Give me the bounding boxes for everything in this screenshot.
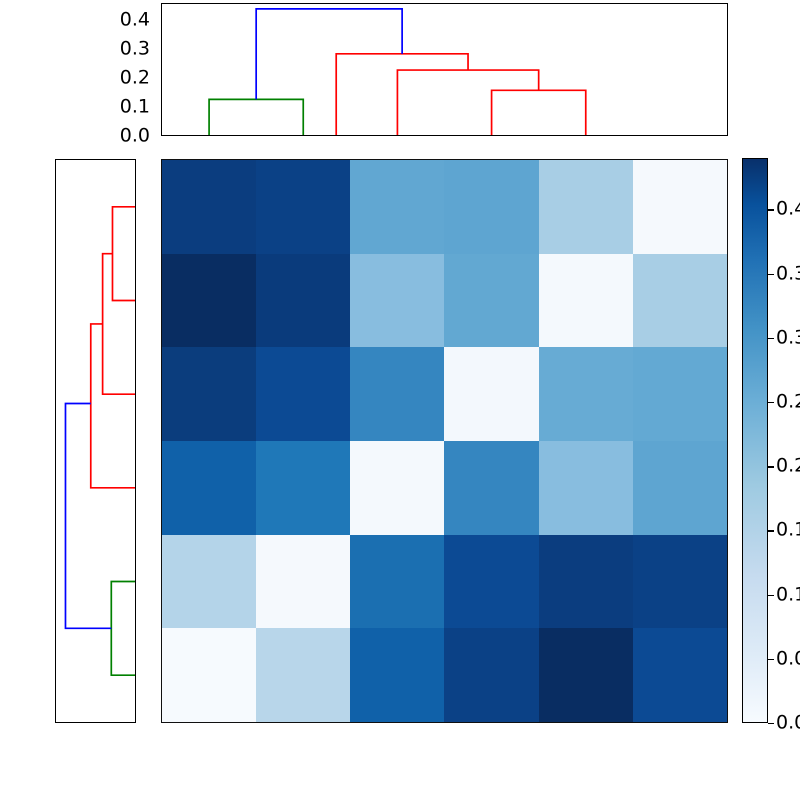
dendrogram-link [209, 99, 303, 135]
heatmap-cell [256, 347, 350, 441]
heatmap-cell [162, 535, 256, 629]
heatmap-cell [444, 535, 538, 629]
heatmap-cell [539, 347, 633, 441]
heatmap-cell [350, 628, 444, 722]
dendrogram-link [103, 254, 135, 395]
colorbar-tick-mark [768, 466, 774, 467]
top-ytick-label-3: 0.3 [120, 40, 150, 59]
heatmap-cell [350, 347, 444, 441]
top-dendrogram-yaxis: 0.0 0.1 0.2 0.3 0.4 [0, 0, 161, 140]
colorbar-tick-label: 0.25 [776, 392, 800, 411]
dendrogram-link [111, 582, 135, 676]
dendrogram-link [112, 207, 135, 301]
heatmap-grid [162, 160, 727, 722]
heatmap-cell [539, 441, 633, 535]
dendrogram-link [65, 404, 111, 629]
top-dendrogram-panel[interactable] [161, 3, 728, 136]
left-dendrogram-panel[interactable] [55, 159, 136, 723]
colorbar-tick-label: 0.40 [776, 200, 800, 219]
heatmap-cell [539, 535, 633, 629]
heatmap-cell [162, 254, 256, 348]
heatmap-cell [539, 254, 633, 348]
colorbar-tick-label: 0.00 [776, 714, 800, 733]
heatmap-cell [444, 441, 538, 535]
colorbar-tick-label: 0.05 [776, 649, 800, 668]
heatmap-cell [162, 441, 256, 535]
heatmap-cell [539, 160, 633, 254]
dendrogram-link [492, 90, 586, 135]
heatmap-cell [256, 628, 350, 722]
heatmap-cell [633, 628, 727, 722]
heatmap-cell [350, 160, 444, 254]
colorbar-tick-label: 0.15 [776, 521, 800, 540]
heatmap-cell [444, 628, 538, 722]
heatmap-cell [633, 254, 727, 348]
dendrogram-link [91, 324, 135, 488]
heatmap-cell [633, 441, 727, 535]
colorbar-tick-label: 0.10 [776, 585, 800, 604]
heatmap-cell [350, 254, 444, 348]
heatmap-cell [444, 254, 538, 348]
left-dendrogram-plot [56, 160, 135, 722]
colorbar-tick-mark [768, 402, 774, 403]
top-ytick-label-0: 0.0 [120, 127, 150, 146]
heatmap-cell [256, 535, 350, 629]
top-ytick-label-2: 0.2 [120, 69, 150, 88]
colorbar-tick-label: 0.30 [776, 328, 800, 347]
top-ytick-label-4: 0.4 [120, 11, 150, 30]
colorbar-tick-mark [768, 338, 774, 339]
heatmap-cell [162, 347, 256, 441]
colorbar-tick-mark [768, 595, 774, 596]
colorbar-tick-mark [768, 659, 774, 660]
heatmap-cell [256, 441, 350, 535]
heatmap-cell [444, 160, 538, 254]
top-ytick-label-1: 0.1 [120, 98, 150, 117]
heatmap-cell [633, 535, 727, 629]
colorbar-axis: 0.000.050.100.150.200.250.300.350.40 [742, 158, 800, 723]
colorbar-tick-mark [768, 274, 774, 275]
colorbar-tick-label: 0.20 [776, 457, 800, 476]
colorbar-tick-mark [768, 723, 774, 724]
heatmap-cell [256, 254, 350, 348]
heatmap-cell [350, 441, 444, 535]
distance-matrix-heatmap[interactable] [161, 159, 728, 723]
heatmap-cell [444, 347, 538, 441]
heatmap-cell [350, 535, 444, 629]
dendrogram-link [336, 54, 468, 135]
dendrogram-link [397, 70, 538, 135]
heatmap-cell [633, 347, 727, 441]
colorbar-tick-mark [768, 530, 774, 531]
colorbar-tick-label: 0.35 [776, 264, 800, 283]
heatmap-cell [162, 628, 256, 722]
heatmap-cell [256, 160, 350, 254]
heatmap-cell [633, 160, 727, 254]
top-dendrogram-plot [162, 4, 727, 135]
heatmap-cell [539, 628, 633, 722]
heatmap-cell [162, 160, 256, 254]
colorbar-tick-mark [768, 209, 774, 210]
